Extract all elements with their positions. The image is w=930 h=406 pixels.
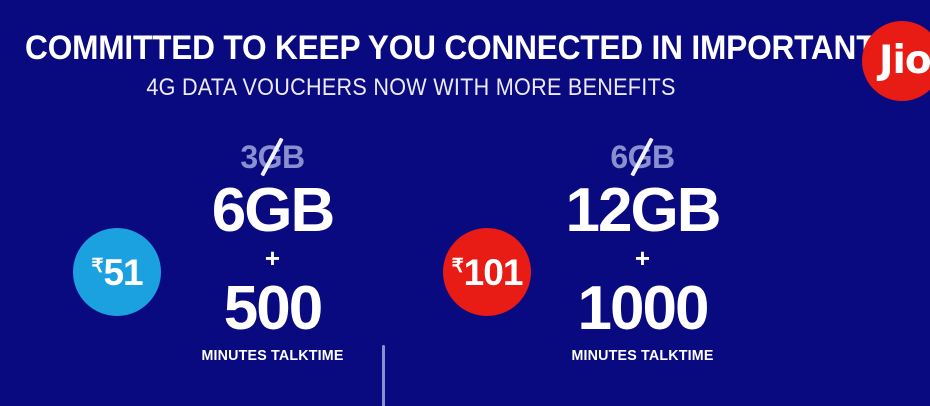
offer-details: 3GB 6GB + 500 MINUTES TALKTIME [160,140,385,364]
plus-icon: + [160,244,385,272]
jio-logo: Jio [862,21,930,101]
price-amount: ₹101 [452,254,523,291]
talktime-value: 1000 [530,278,755,340]
talktime-value: 500 [160,278,385,340]
price-amount: ₹51 [91,254,142,291]
promo-banner: COMMITTED TO KEEP YOU CONNECTED IN IMPOR… [0,0,930,406]
new-data-value: 6GB [160,180,385,242]
page-title: COMMITTED TO KEEP YOU CONNECTED IN IMPOR… [25,31,797,65]
jio-wordmark: Jio [879,40,930,82]
price-value: 51 [103,254,142,291]
offer-list: ₹51 3GB 6GB + 500 MINUTES TALKTIME ₹101 [0,140,930,385]
offer-card[interactable]: ₹101 6GB 12GB + 1000 MINUTES TALKTIME [425,140,755,385]
price-value: 101 [464,254,523,291]
old-data-value: 6GB [610,140,674,174]
price-badge[interactable]: ₹101 [443,228,531,316]
offer-details: 6GB 12GB + 1000 MINUTES TALKTIME [530,140,755,364]
rupee-icon: ₹ [91,257,102,276]
offer-card[interactable]: ₹51 3GB 6GB + 500 MINUTES TALKTIME [55,140,385,385]
new-data-value: 12GB [530,180,755,242]
plus-icon: + [530,244,755,272]
rupee-icon: ₹ [452,257,463,276]
talktime-caption: MINUTES TALKTIME [166,348,380,364]
offer-divider [382,345,385,406]
price-badge[interactable]: ₹51 [73,228,161,316]
old-data-value: 3GB [240,140,304,174]
talktime-caption: MINUTES TALKTIME [536,348,750,364]
page-subtitle: 4G DATA VOUCHERS NOW WITH MORE BENEFITS [38,76,785,100]
